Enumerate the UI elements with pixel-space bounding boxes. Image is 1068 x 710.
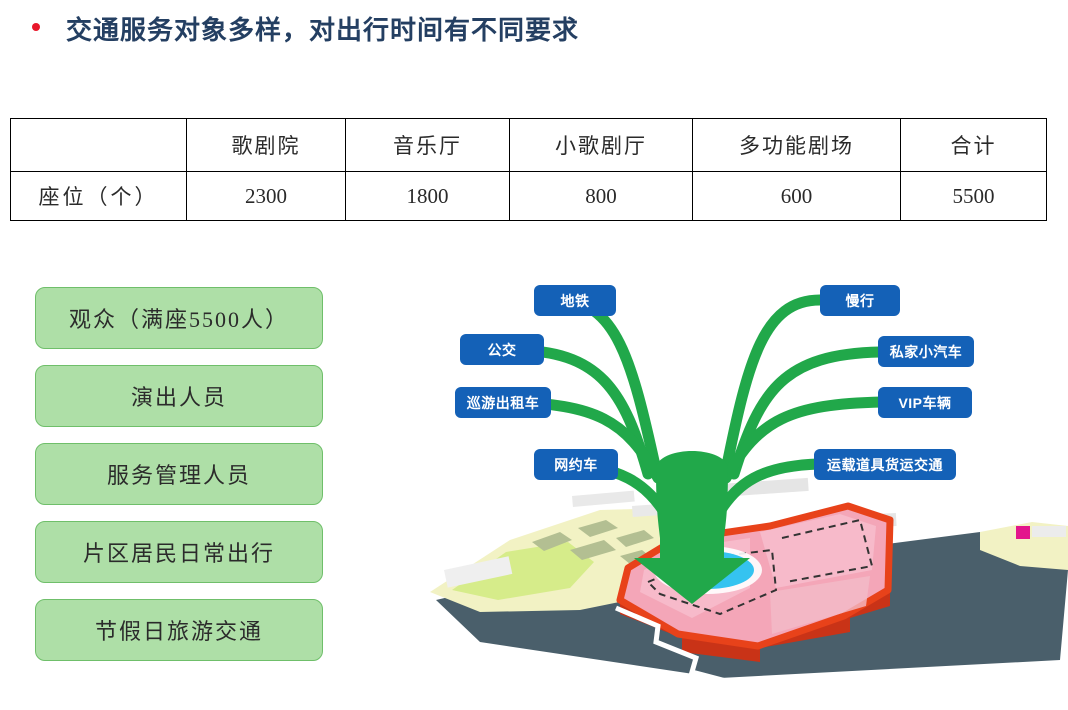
mode-chip-label: 网约车 [554,455,598,475]
map-label-card [572,491,635,507]
mode-chip-vip-vehicle[interactable]: VIP车辆 [878,387,972,418]
mode-chip-label: 公交 [488,340,517,360]
transport-mode-diagram: 地铁 公交 巡游出租车 网约车 慢行 私家小汽车 VIP车辆 运载道具货运交通 [420,270,1068,690]
audience-group-label: 演出人员 [131,380,227,412]
table-cell-seats-multifunction-theatre: 600 [693,172,901,221]
mode-chip-label: VIP车辆 [898,393,951,413]
mode-chip-label: 慢行 [846,291,875,311]
map-marker [1016,526,1030,539]
list-item[interactable]: 片区居民日常出行 [35,521,323,583]
table-header-multifunction-theatre: 多功能剧场 [693,119,901,172]
mode-chip-ride-hailing[interactable]: 网约车 [534,449,618,480]
audience-group-list: 观众（满座5500人） 演出人员 服务管理人员 片区居民日常出行 节假日旅游交通 [35,287,323,677]
audience-group-label: 服务管理人员 [107,458,251,490]
mode-chip-label: 运载道具货运交通 [827,455,943,475]
mode-chip-label: 私家小汽车 [890,342,963,362]
audience-group-label: 片区居民日常出行 [83,536,275,568]
list-item[interactable]: 观众（满座5500人） [35,287,323,349]
list-item[interactable]: 服务管理人员 [35,443,323,505]
table-cell-seats-opera-house: 2300 [187,172,346,221]
audience-group-label: 观众（满座5500人） [69,302,289,334]
seat-capacity-table: 歌剧院 音乐厅 小歌剧厅 多功能剧场 合计 座位（个） 2300 1800 80… [10,118,1047,221]
page-title: 交通服务对象多样，对出行时间有不同要求 [66,10,579,47]
table-cell-seats-small-opera-hall: 800 [510,172,693,221]
table-cell-seats-total: 5500 [901,172,1047,221]
mode-chip-bus[interactable]: 公交 [460,334,544,365]
table-header-total: 合计 [901,119,1047,172]
table-cell-seats-concert-hall: 1800 [346,172,510,221]
table-header-concert-hall: 音乐厅 [346,119,510,172]
mode-chip-walking[interactable]: 慢行 [820,285,900,316]
table-row-label-seats: 座位（个） [11,172,187,221]
mode-chip-freight[interactable]: 运载道具货运交通 [814,449,956,480]
list-item[interactable]: 演出人员 [35,365,323,427]
mode-chip-label: 巡游出租车 [467,393,540,413]
table-header-opera-house: 歌剧院 [187,119,346,172]
diagram-illustration [420,270,1068,690]
table-corner-cell [11,119,187,172]
mode-chip-taxi[interactable]: 巡游出租车 [455,387,551,418]
bullet-icon [32,23,40,31]
table-header-row: 歌剧院 音乐厅 小歌剧厅 多功能剧场 合计 [11,119,1047,172]
slide-title-row: 交通服务对象多样，对出行时间有不同要求 [0,0,1068,58]
table-row: 座位（个） 2300 1800 800 600 5500 [11,172,1047,221]
audience-group-label: 节假日旅游交通 [95,614,263,646]
mode-chip-subway[interactable]: 地铁 [534,285,616,316]
mode-chip-label: 地铁 [561,291,590,311]
mode-chip-private-car[interactable]: 私家小汽车 [878,336,974,367]
list-item[interactable]: 节假日旅游交通 [35,599,323,661]
table-header-small-opera-hall: 小歌剧厅 [510,119,693,172]
map-label-card [1032,526,1066,537]
site-map-illustration [430,478,1068,682]
